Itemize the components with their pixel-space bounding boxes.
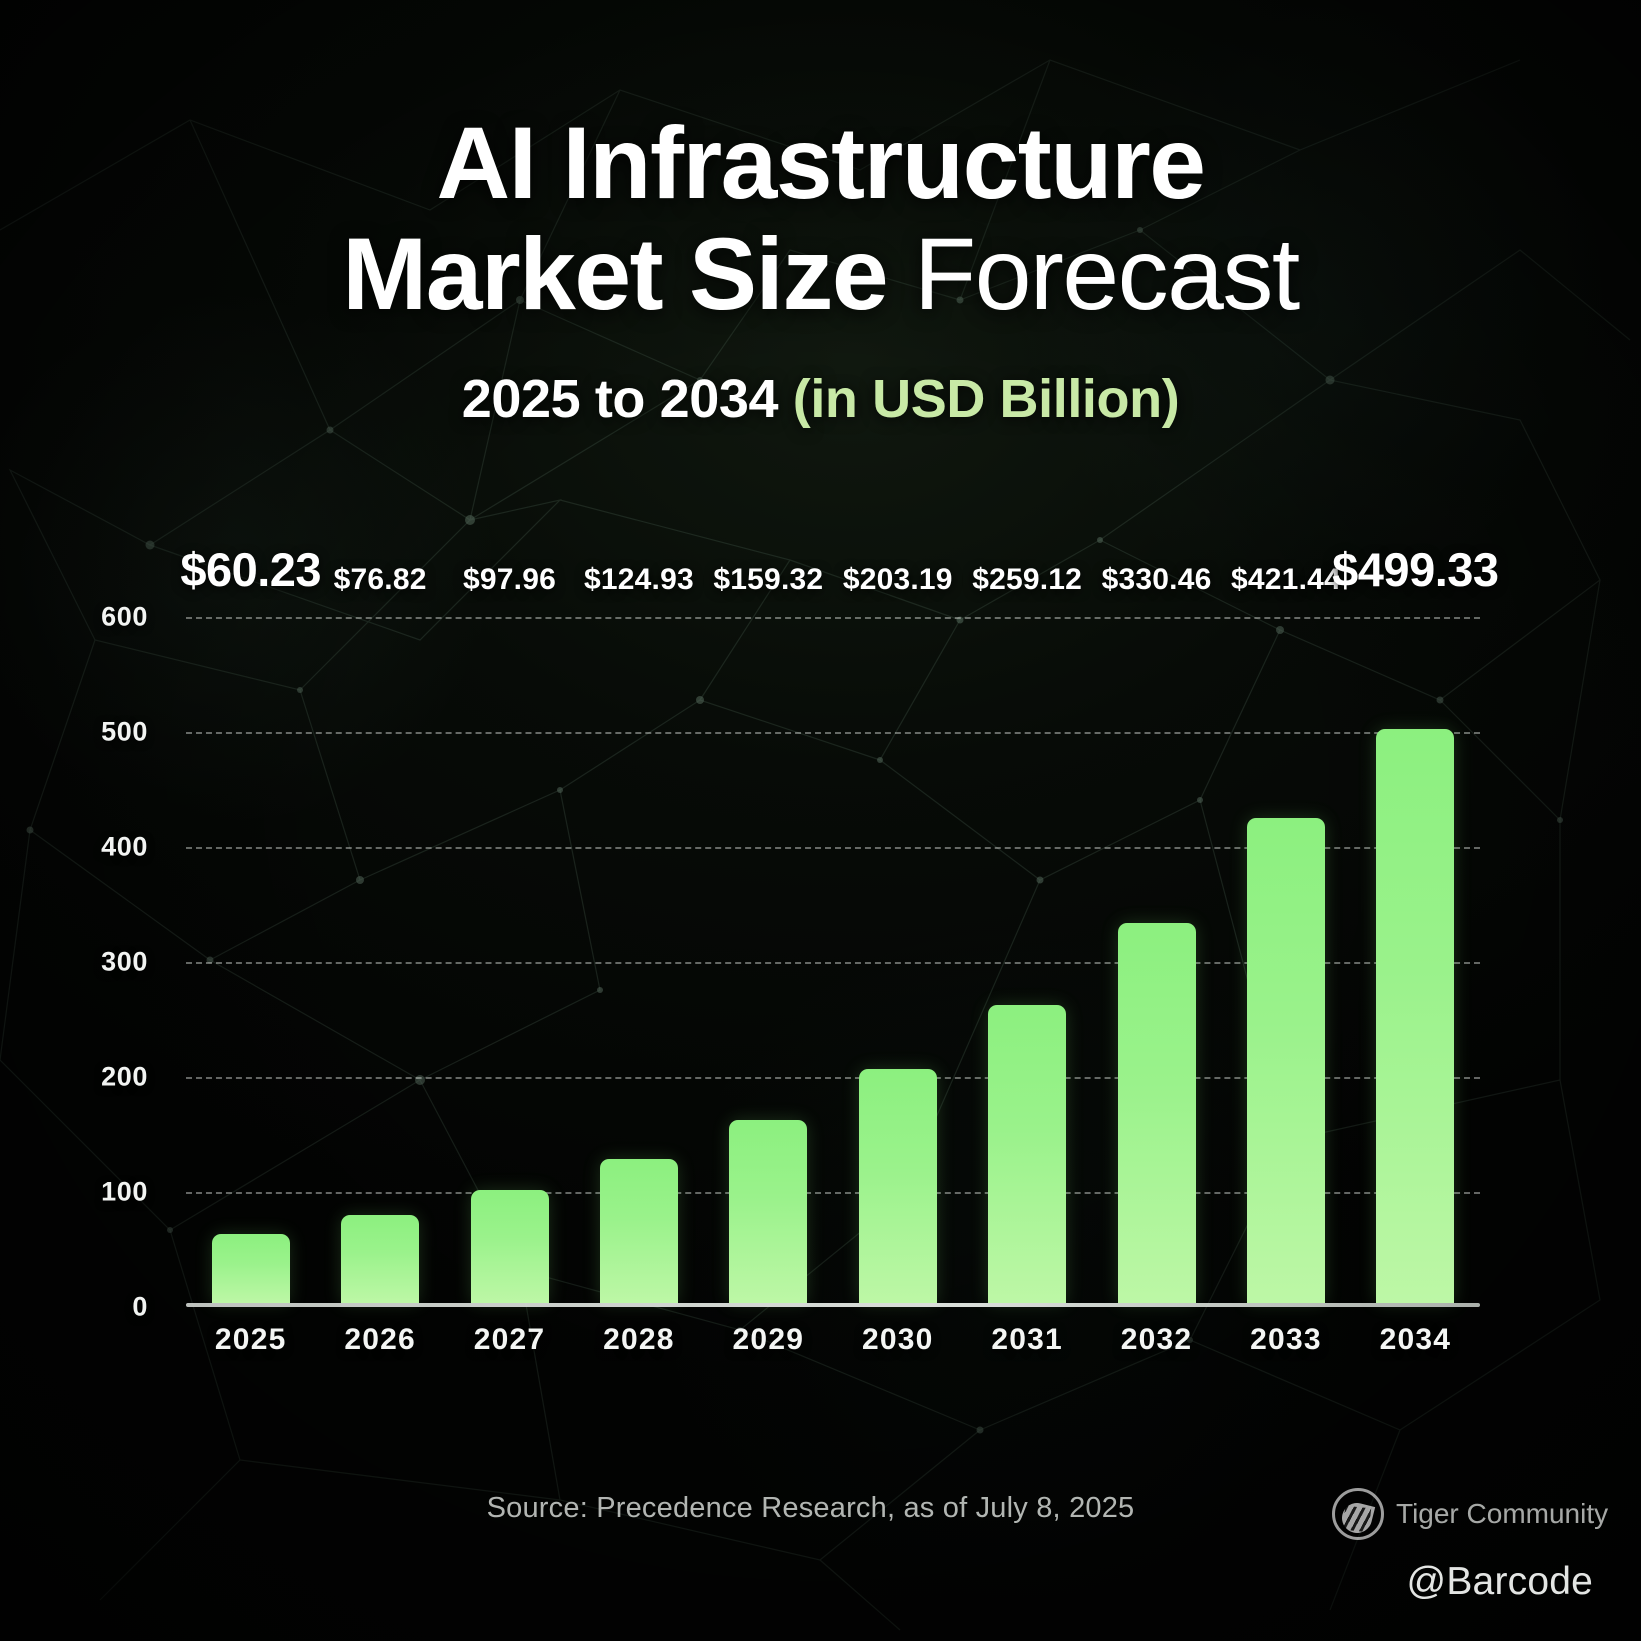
subtitle-unit: (in USD Billion) (793, 369, 1180, 429)
x-axis-tick-2029: 2029 (704, 1323, 833, 1357)
x-axis-tick-2028: 2028 (574, 1323, 703, 1357)
x-axis-line (186, 1303, 1480, 1307)
bar-column-2026[interactable]: $76.82 (315, 613, 444, 1303)
bar-column-2029[interactable]: $159.32 (704, 613, 833, 1303)
x-axis-tick-2031: 2031 (962, 1323, 1091, 1357)
x-axis-tick-2027: 2027 (445, 1323, 574, 1357)
bar-column-2032[interactable]: $330.46 (1092, 613, 1221, 1303)
bar-2025[interactable]: $60.23 (212, 1234, 290, 1303)
bar-column-2030[interactable]: $203.19 (833, 613, 962, 1303)
bar-2031[interactable]: $259.12 (988, 1005, 1066, 1303)
bar-value-label-2026: $76.82 (334, 563, 427, 597)
x-axis-tick-2033: 2033 (1221, 1323, 1350, 1357)
bar-value-label-2025: $60.23 (180, 542, 321, 597)
bar-2028[interactable]: $124.93 (600, 1159, 678, 1303)
bar-column-2034[interactable]: $499.33 (1351, 613, 1480, 1303)
x-axis-tick-2025: 2025 (186, 1323, 315, 1357)
page-title: AI Infrastructure Market Size Forecast (0, 108, 1641, 330)
title-line-1: AI Infrastructure (437, 106, 1205, 220)
y-axis-tick-400: 400 (38, 832, 148, 863)
bar-column-2031[interactable]: $259.12 (962, 613, 1091, 1303)
bar-value-label-2034: $499.33 (1332, 542, 1498, 597)
bar-column-2025[interactable]: $60.23 (186, 613, 315, 1303)
bar-2030[interactable]: $203.19 (859, 1069, 937, 1303)
bars-group: $60.23$76.82$97.96$124.93$159.32$203.19$… (186, 613, 1480, 1303)
y-axis-tick-600: 600 (38, 602, 148, 633)
x-axis-tick-2034: 2034 (1351, 1323, 1480, 1357)
bar-2032[interactable]: $330.46 (1118, 923, 1196, 1303)
bar-2026[interactable]: $76.82 (341, 1215, 419, 1303)
bar-value-label-2029: $159.32 (713, 563, 823, 597)
x-axis-tick-2026: 2026 (315, 1323, 444, 1357)
title-line-2-bold: Market Size (342, 217, 887, 331)
y-axis-tick-500: 500 (38, 717, 148, 748)
subtitle-range: 2025 to 2034 (462, 369, 778, 429)
poster-header: AI Infrastructure Market Size Forecast 2… (0, 0, 1641, 430)
bar-value-label-2030: $203.19 (843, 563, 953, 597)
y-axis-tick-200: 200 (38, 1062, 148, 1093)
y-axis-tick-0: 0 (38, 1292, 148, 1323)
watermark-label: Tiger Community (1396, 1498, 1608, 1530)
bar-value-label-2032: $330.46 (1102, 563, 1212, 597)
x-axis-tick-labels: 2025202620272028202920302031203220332034 (186, 1323, 1480, 1357)
author-handle: @Barcode (1407, 1560, 1593, 1604)
page-subtitle: 2025 to 2034 (in USD Billion) (0, 368, 1641, 430)
title-line-2-thin: Forecast (914, 217, 1299, 331)
x-axis-tick-2032: 2032 (1092, 1323, 1221, 1357)
watermark: Tiger Community (1332, 1488, 1608, 1540)
bar-2027[interactable]: $97.96 (471, 1190, 549, 1303)
bar-value-label-2033: $421.44 (1231, 563, 1341, 597)
tiger-logo-icon (1332, 1488, 1384, 1540)
bar-2034[interactable]: $499.33 (1376, 729, 1454, 1303)
bar-column-2028[interactable]: $124.93 (574, 613, 703, 1303)
bar-column-2027[interactable]: $97.96 (445, 613, 574, 1303)
bar-chart: 6005004003002001000 $60.23$76.82$97.96$1… (96, 596, 1496, 1396)
bar-value-label-2027: $97.96 (463, 563, 556, 597)
y-axis-tick-300: 300 (38, 947, 148, 978)
bar-2029[interactable]: $159.32 (729, 1120, 807, 1303)
infographic-poster: AI Infrastructure Market Size Forecast 2… (0, 0, 1641, 1641)
x-axis-tick-2030: 2030 (833, 1323, 962, 1357)
bar-2033[interactable]: $421.44 (1247, 818, 1325, 1303)
bar-column-2033[interactable]: $421.44 (1221, 613, 1350, 1303)
plot-area: 6005004003002001000 $60.23$76.82$97.96$1… (186, 617, 1480, 1307)
bar-value-label-2028: $124.93 (584, 563, 694, 597)
bar-value-label-2031: $259.12 (972, 563, 1082, 597)
y-axis-tick-100: 100 (38, 1177, 148, 1208)
